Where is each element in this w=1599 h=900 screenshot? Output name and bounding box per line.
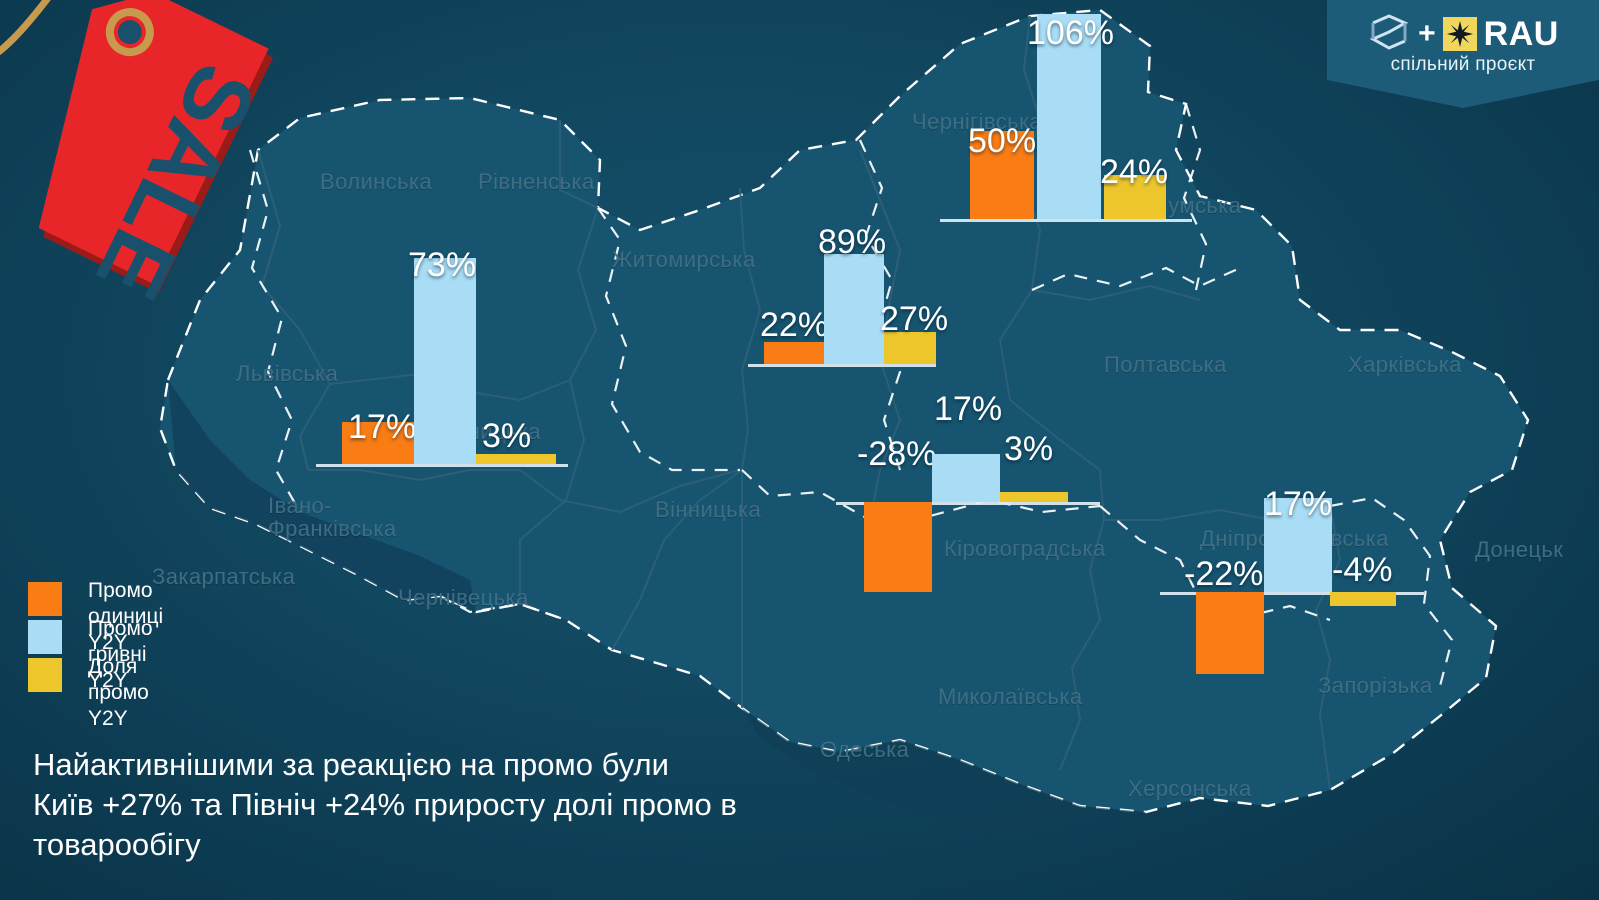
partner-logo[interactable]: + RAU спільний проєкт <box>1327 0 1599 122</box>
bar-center-south-промо <box>1000 492 1068 502</box>
bar-value-label: 22% <box>760 308 828 342</box>
bar-value-label: 24% <box>1100 155 1168 189</box>
sale-price-tag-icon: SALE <box>0 0 282 320</box>
s-hexagon-logo-icon <box>1367 14 1411 54</box>
bar-value-label: 3% <box>1004 432 1053 466</box>
eight-point-star-icon <box>1443 17 1477 51</box>
bar-west-промо <box>476 454 556 464</box>
logo-plus: + <box>1418 19 1436 49</box>
bar-kyiv-одиниці <box>764 342 824 364</box>
bar-value-label: 89% <box>818 225 886 259</box>
bar-value-label: 50% <box>968 124 1036 158</box>
bar-east-одиниці <box>1196 592 1264 674</box>
tag-string <box>0 0 54 64</box>
bar-value-label: 17% <box>1264 487 1332 521</box>
bar-value-label: 73% <box>408 248 476 282</box>
bar-center-south-гривні <box>932 454 1000 502</box>
infographic-canvas: ВолинськаРівненськаЖитомирськаЧернігівсь… <box>0 0 1599 900</box>
logo-subtitle: спільний проєкт <box>1327 54 1599 76</box>
bar-center-south-одиниці <box>864 502 932 592</box>
legend-label: Доля промо Y2Y <box>88 654 149 732</box>
bar-value-label: -28% <box>857 437 936 471</box>
legend-swatch-promo-uah <box>28 620 62 654</box>
zero-axis-line <box>316 464 568 467</box>
summary-caption: Найактивнішими за реакцією на промо були… <box>33 745 913 865</box>
zero-axis-line <box>748 364 936 367</box>
bar-value-label: 3% <box>482 419 531 453</box>
bar-value-label: -4% <box>1332 553 1392 587</box>
bar-value-label: -22% <box>1184 557 1263 591</box>
bar-kyiv-гривні <box>824 254 884 364</box>
legend-swatch-promo-units <box>28 582 62 616</box>
bar-value-label: 27% <box>880 302 948 336</box>
bar-west-гривні <box>414 258 476 464</box>
rau-brand-text: RAU <box>1484 17 1559 51</box>
bar-value-label: 106% <box>1027 16 1114 50</box>
zero-axis-line <box>940 219 1192 222</box>
bar-east-промо <box>1330 592 1396 606</box>
bar-value-label: 17% <box>348 410 416 444</box>
legend-swatch-promo-share <box>28 658 62 692</box>
bar-value-label: 17% <box>934 392 1002 426</box>
